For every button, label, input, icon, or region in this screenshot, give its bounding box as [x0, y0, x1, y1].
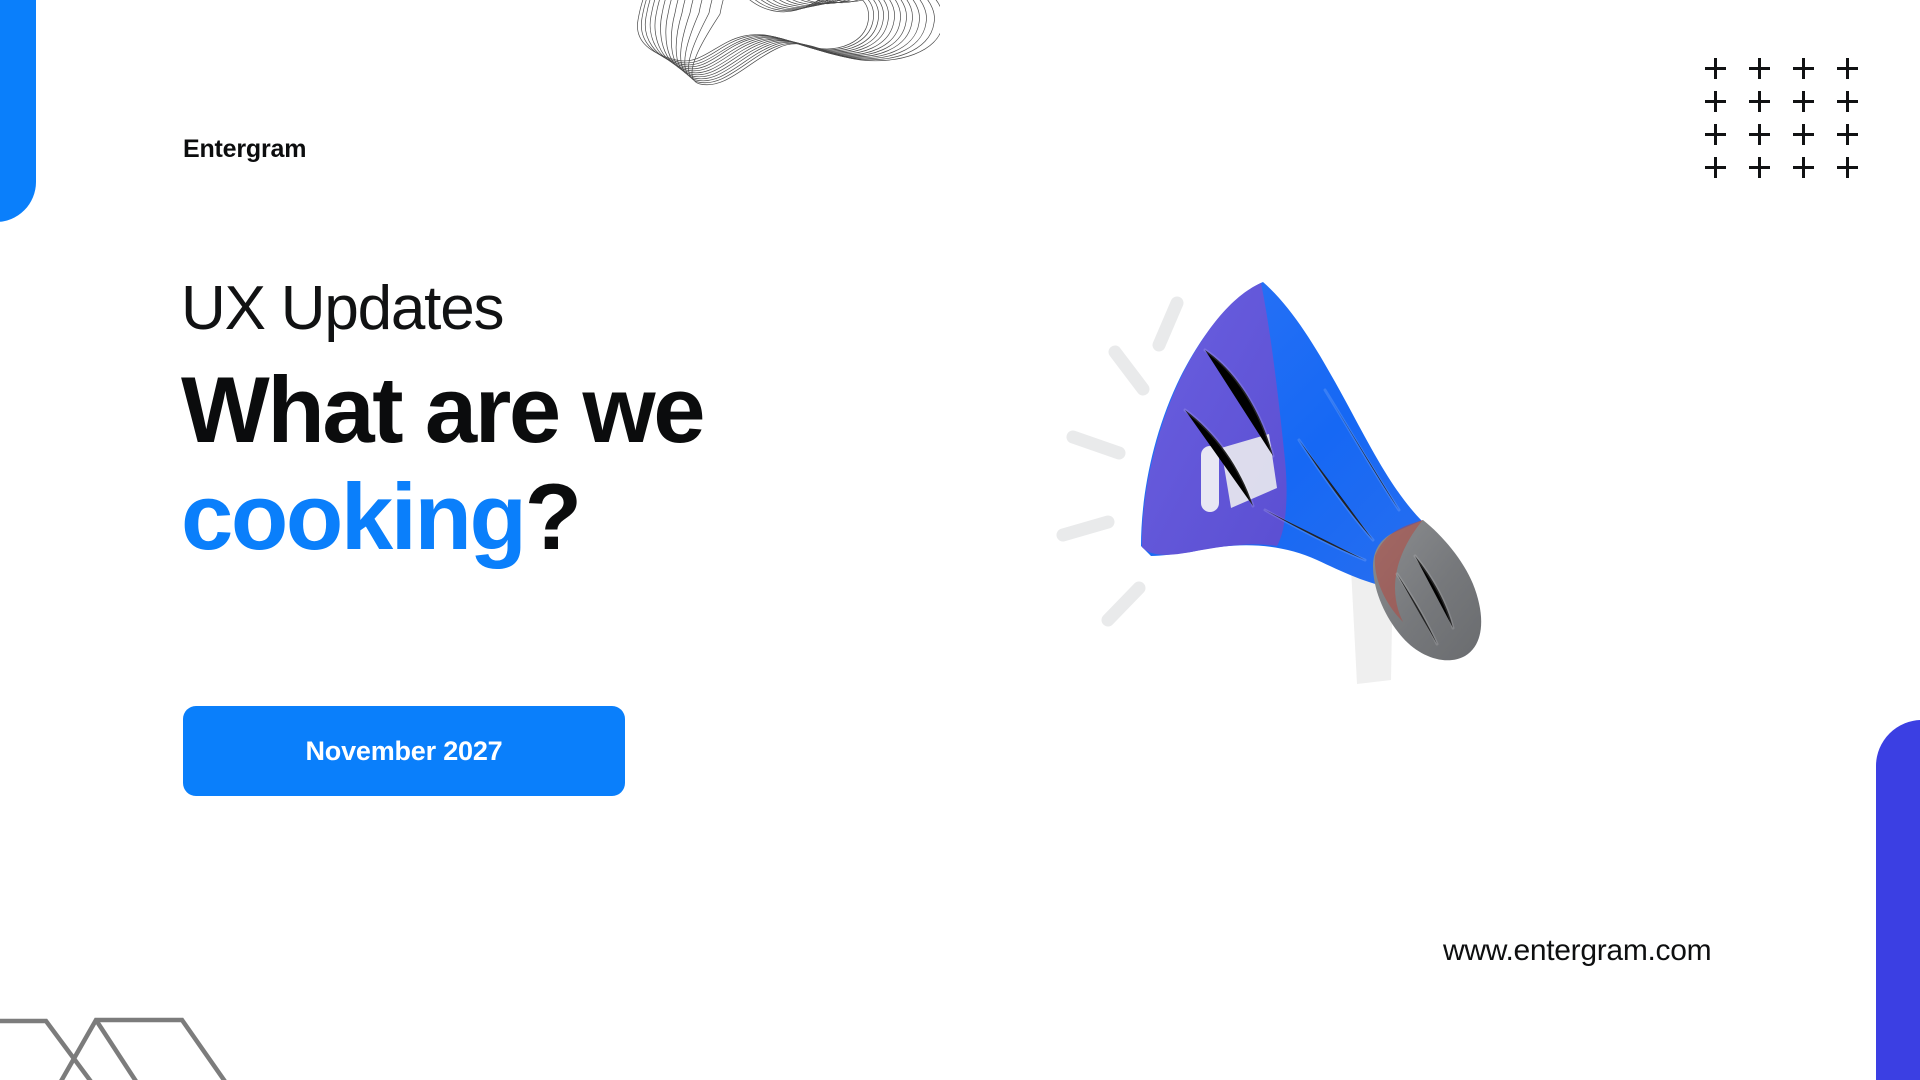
plus-icon	[1744, 56, 1788, 89]
plus-icon	[1788, 89, 1832, 122]
page-title: What are we cooking?	[181, 356, 1061, 570]
plus-icon	[1700, 56, 1744, 89]
plus-icon	[1788, 56, 1832, 89]
megaphone-diaphragm-edge	[1201, 446, 1219, 512]
date-badge-label: November 2027	[305, 736, 502, 767]
title-accent-word: cooking	[181, 464, 525, 569]
plus-icon	[1700, 122, 1744, 155]
plus-icon	[1744, 155, 1788, 188]
title-question-mark: ?	[525, 464, 580, 569]
plus-icon	[1744, 122, 1788, 155]
blue-corner-bar-left-icon	[0, 0, 36, 222]
title-line-2: cooking?	[181, 463, 1061, 570]
plus-icon	[1832, 155, 1876, 188]
indigo-corner-bar-right-icon	[1876, 720, 1920, 1080]
title-line-1: What are we	[181, 356, 1061, 463]
plus-icon	[1832, 56, 1876, 89]
plus-icon	[1700, 155, 1744, 188]
brand-wordmark: Entergram	[183, 135, 306, 164]
plus-icon	[1832, 122, 1876, 155]
headline-block: UX Updates What are we cooking?	[181, 278, 1061, 570]
plus-icon	[1832, 89, 1876, 122]
plus-icon	[1744, 89, 1788, 122]
eyebrow-text: UX Updates	[181, 278, 1061, 340]
date-badge[interactable]: November 2027	[183, 706, 625, 796]
website-url[interactable]: www.entergram.com	[1443, 934, 1711, 968]
presentation-slide: Entergram UX Updates What are we cooking…	[0, 0, 1920, 1080]
zigzag-line-decoration-icon	[0, 1008, 240, 1080]
megaphone-illustration-icon	[1055, 260, 1555, 720]
wave-lines-decoration-icon	[620, 0, 940, 114]
plus-icon	[1788, 122, 1832, 155]
plus-icon	[1700, 89, 1744, 122]
plus-icon	[1788, 155, 1832, 188]
plus-grid-decoration	[1700, 56, 1876, 188]
